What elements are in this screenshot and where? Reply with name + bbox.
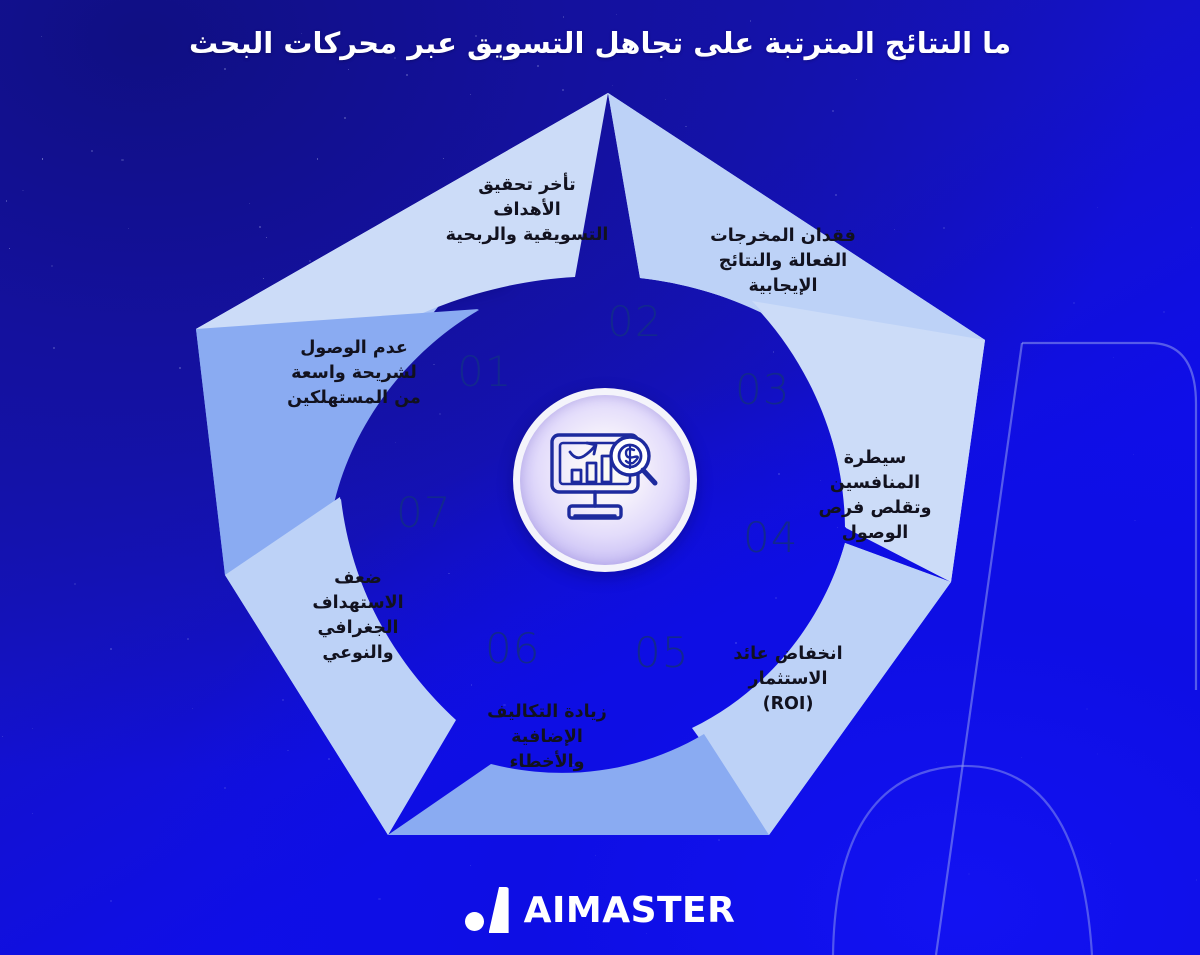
segment-label-06: زيادة التكاليف الإضافية والأخطاء [462,700,632,775]
segment-number-06: 06 [485,624,540,673]
segment-number-05: 05 [634,628,689,677]
aimaster-logo-mark [465,887,511,933]
segment-label-05: انخفاض عائد الاستثمار (ROI) [712,642,864,717]
brand-name: AIMASTER [524,890,736,931]
segment-number-03: 03 [735,365,790,414]
segment-label-07: ضعف الاستهداف الجغرافي والنوعي [288,566,428,665]
segment-number-07: 07 [396,488,451,537]
logo-dot [465,912,484,931]
center-medallion[interactable] [513,388,697,572]
monitor-analytics-dollar-search-icon [547,426,663,534]
logo-bar [489,887,509,933]
segment-number-01: 01 [457,347,512,396]
segment-number-04: 04 [743,513,798,562]
segment-number-02: 02 [607,297,662,346]
segment-label-02: تأخر تحقيق الأهداف التسويقية والربحية [434,173,620,248]
segment-label-01: عدم الوصول لشريحة واسعة من المستهلكين [272,336,436,411]
segment-label-04: سيطرة المنافسين وتقلص فرص الوصول [805,446,945,545]
brand-logo: AIMASTER [0,887,1200,933]
segment-label-03: فقدان المخرجات الفعالة والنتائج الإيجابي… [692,224,874,299]
infographic-canvas: ما النتائج المترتبة على تجاهل التسويق عب… [0,0,1200,955]
